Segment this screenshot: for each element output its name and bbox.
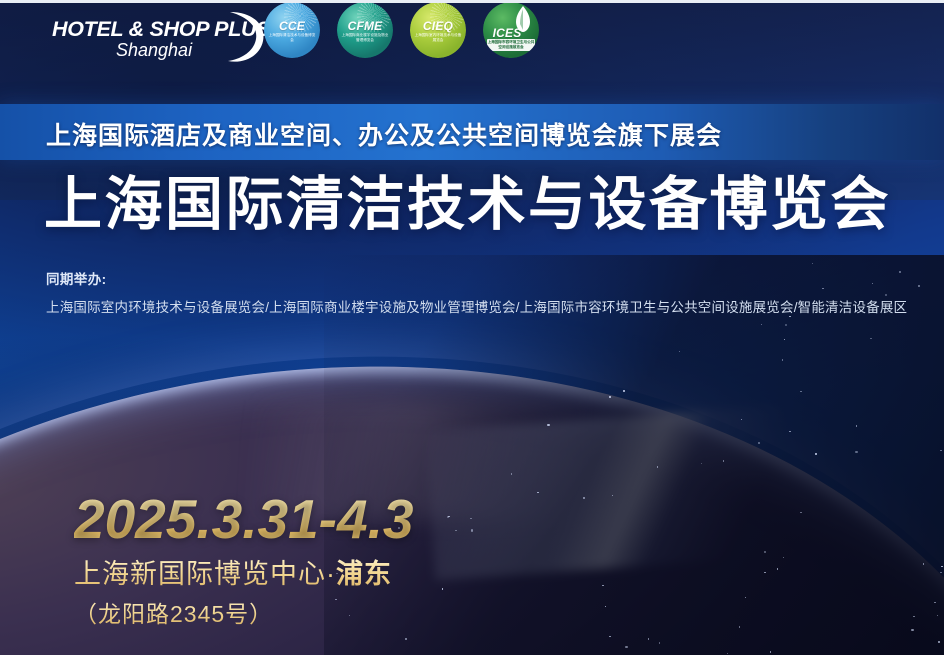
badge-name: ICES (483, 26, 539, 40)
badge-cfme[interactable]: CFME 上海国际商业楼宇设施及物业管理博览会 (337, 2, 393, 58)
badge-ices[interactable]: ICES 上海国际市容环境卫生与公共空间设施展览会 (483, 2, 539, 58)
badge-subtitle: 上海国际室内环境技术与设备展览会 (414, 33, 462, 43)
co-held-section: 同期举办: 上海国际室内环境技术与设备展览会/上海国际商业楼宇设施及物业管理博览… (46, 268, 926, 319)
crescent-swoosh-icon (208, 10, 268, 66)
event-address: （龙阳路2345号） (74, 598, 413, 630)
event-details: 2025.3.31-4.3 上海新国际博览中心·浦东 （龙阳路2345号） (74, 488, 413, 630)
badge-subtitle: 上海国际市容环境卫生与公共空间设施展览会 (487, 39, 535, 51)
co-held-list: 上海国际室内环境技术与设备展览会/上海国际商业楼宇设施及物业管理博览会/上海国际… (46, 296, 926, 319)
venue-district: 浦东 (336, 559, 392, 589)
top-white-strip (0, 0, 944, 3)
badge-cce[interactable]: CCE 上海国际清洁技术与设备博览会 (264, 2, 320, 58)
subtitle-band-text: 上海国际酒店及商业空间、办公及公共空间博览会旗下展会 (46, 116, 722, 152)
poster-header: HOTEL & SHOP PLUS Shanghai CCE 上海国际清洁技术与… (0, 0, 944, 72)
badge-name: CIEQ (410, 19, 466, 33)
subtitle-band: 上海国际酒店及商业空间、办公及公共空间博览会旗下展会 (0, 104, 944, 160)
badge-subtitle: 上海国际清洁技术与设备博览会 (268, 33, 316, 43)
event-venue: 上海新国际博览中心·浦东 (74, 556, 413, 592)
page-title: 上海国际清洁技术与设备博览会 (44, 168, 891, 242)
co-held-label: 同期举办: (46, 268, 926, 288)
venue-name: 上海新国际博览中心· (74, 559, 336, 589)
badge-name: CFME (337, 19, 393, 33)
hotel-shop-plus-logo: HOTEL & SHOP PLUS Shanghai (48, 10, 263, 62)
badge-name: CCE (264, 19, 320, 33)
badge-subtitle: 上海国际商业楼宇设施及物业管理博览会 (341, 33, 389, 43)
badge-cieq[interactable]: CIEQ 上海国际室内环境技术与设备展览会 (410, 2, 466, 58)
logo-secondary-text: Shanghai (116, 40, 192, 61)
event-date: 2025.3.31-4.3 (74, 488, 413, 550)
exhibition-poster: HOTEL & SHOP PLUS Shanghai CCE 上海国际清洁技术与… (0, 0, 944, 655)
